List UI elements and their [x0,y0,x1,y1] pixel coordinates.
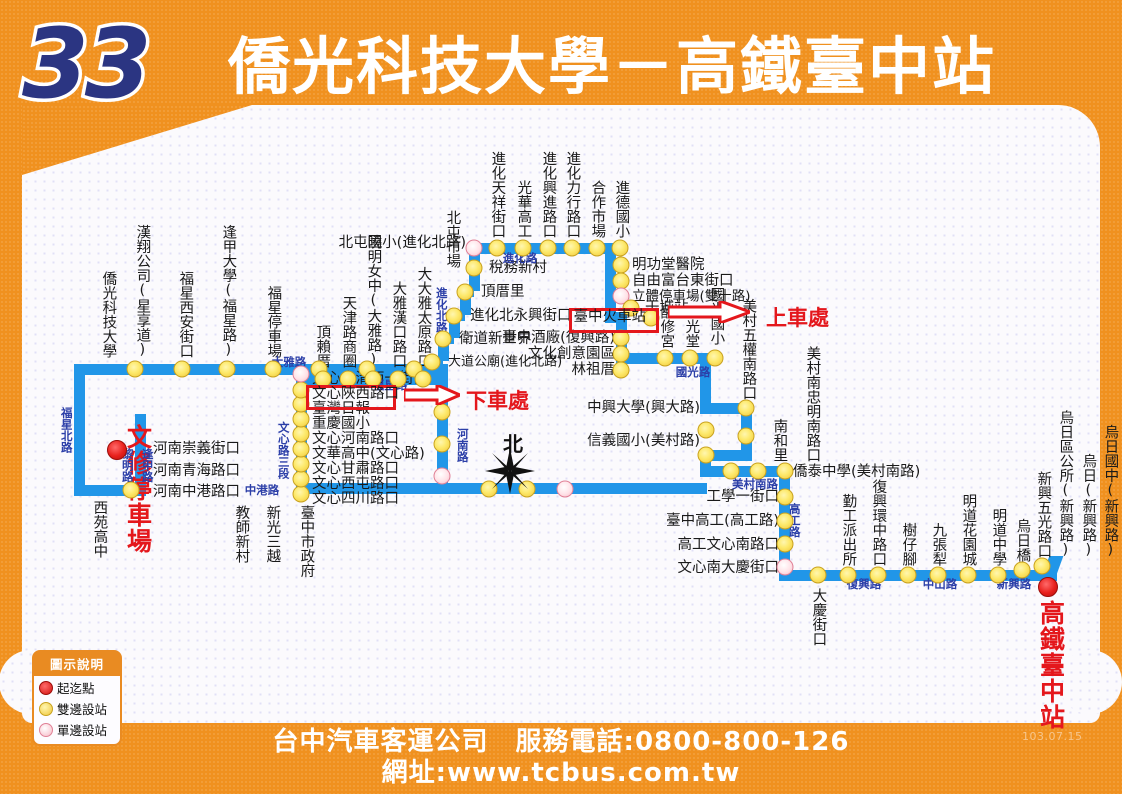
station-label-boarding: 臺中火車站 [574,310,647,325]
start-end-dot-icon [39,681,53,695]
stop-dot [540,240,557,257]
station-label: 大慶街口 [811,588,826,646]
station-label: 重慶國小 [312,417,370,432]
stop-dot [123,482,140,499]
station-label: 明道花園城 [961,494,976,567]
stop-dot [434,436,451,453]
both-side-dot-icon [39,702,53,716]
stop-dot [612,240,629,257]
street-label: 河南路 [456,428,468,463]
station-label: 福星停車場 [266,286,281,359]
stop-dot [457,284,474,301]
stop-dot-single [466,240,483,257]
station-label: 南和里 [772,419,787,463]
stop-dot [564,240,581,257]
stop-dot [293,411,310,428]
stop-dot [840,567,857,584]
stop-dot-single [777,559,794,576]
footer-company: 台中汽車客運公司 服務電話:0800-800-126 [0,726,1122,758]
stop-dot [682,350,699,367]
street-label: 國光路 [676,364,711,380]
station-label: 漢翔公司(星享道) [135,225,150,359]
stop-dot [613,362,630,379]
bus-route-map: 33 僑光科技大學－高鐵臺中站 [0,0,1122,794]
stop-dot [293,471,310,488]
station-label: 復興環中路口 [871,479,886,566]
station-label: 新興五光路口 [1036,471,1051,558]
map-panel [22,105,1100,723]
terminus-dot-hsr [1038,577,1058,597]
stop-dot [1034,558,1051,575]
stop-dot [293,441,310,458]
street-label: 文心路三段 [277,421,289,479]
street-label: 中港路 [245,482,280,498]
stop-dot [777,513,794,530]
stop-dot [265,361,282,378]
station-label: 僑光科技大學 [101,271,116,358]
station-label: 臺中市政府 [299,505,314,578]
boarding-arrow-icon [668,301,750,327]
stop-dot [446,308,463,325]
street-label: 進化北路 [435,287,447,333]
stop-dot [613,346,630,363]
street-label: 逢甲路 [141,448,153,483]
station-label: 大大雅太原路口 [416,267,431,369]
legend-title: 圖示說明 [34,652,120,676]
station-label: 天津路商圈 [341,296,356,369]
stop-dot [990,567,1007,584]
station-label: 烏日區公所(新興路) [1058,410,1073,558]
compass-rose-icon [485,448,535,498]
stop-dot [870,567,887,584]
date-stamp: 103.07.15 [1022,730,1082,743]
stop-dot [174,361,191,378]
station-label: 美村南忠明南路口 [805,346,820,462]
station-label: 逢甲大學(福星路) [221,225,236,359]
stop-dot-single [557,481,574,498]
stop-dot [723,463,740,480]
legend: 圖示說明 起迄點 雙邊設站 單邊設站 [32,650,122,746]
station-label: 中興大學(興大路) [587,401,700,416]
stop-dot [777,463,794,480]
station-label: 烏日(新興路) [1081,454,1096,559]
stop-dot [293,486,310,503]
legend-item-label: 雙邊設站 [57,699,107,718]
alighting-arrow-icon [404,385,460,409]
boarding-label: 上車處 [766,302,829,332]
station-label: 進化天祥街口 [490,151,505,238]
station-label: 樹仔腳 [901,523,916,567]
stop-dot [698,447,715,464]
footer: 台中汽車客運公司 服務電話:0800-800-126 網址:www.tcbus.… [0,726,1122,794]
station-label: 林祖厝 [572,363,616,378]
station-label: 僑泰中學(美村南路) [793,465,920,480]
street-label: 福星北路 [60,407,72,453]
stop-dot [900,567,917,584]
station-label: 北屯國小(進化北路) [339,236,466,251]
stop-dot [960,567,977,584]
station-label: 河南青海路口 [153,464,240,479]
stop-dot [930,567,947,584]
station-label: 文心西屯路口 [312,477,399,492]
station-label: 西苑高中 [92,500,107,558]
terminus-dot-wenxiu [107,440,127,460]
stop-dot [738,428,755,445]
station-label: 河南崇義街口 [153,442,240,457]
stop-dot [1014,562,1031,579]
station-label: 信義國小(美村路) [587,434,700,449]
station-label: 勤工派出所 [841,494,856,567]
station-label: 合作市場 [590,180,605,238]
legend-item-label: 起迄點 [57,678,95,697]
station-label: 文華高中(文心路) [312,447,425,462]
station-label: 河南中港路口 [153,485,240,500]
terminus-label-hsr: 高鐵臺中站 [1038,600,1064,730]
station-label: 烏日橋 [1015,519,1030,563]
stop-dot [489,240,506,257]
footer-website: 網址:www.tcbus.com.tw [0,758,1122,788]
header: 33 僑光科技大學－高鐵臺中站 [0,0,1122,110]
stop-dot [435,331,452,348]
station-label: 文化創意園區 [528,347,615,362]
stop-dot [707,350,724,367]
stop-dot [219,361,236,378]
one-side-dot-icon [39,723,53,737]
station-label: 頂厝里 [481,285,525,300]
stop-dot [750,463,767,480]
stop-dot-single [293,366,310,383]
station-label: 臺中高工(高工路) [666,514,779,529]
stop-dot [589,240,606,257]
stop-dot-single [434,468,451,485]
legend-item-start: 起迄點 [34,676,120,697]
stop-dot [293,426,310,443]
stop-dot [810,567,827,584]
legend-item-both: 雙邊設站 [34,697,120,718]
route-number: 33 [22,8,148,120]
stop-dot [777,536,794,553]
legend-item-label: 單邊設站 [57,720,107,739]
station-label: 明功堂醫院 [632,258,705,273]
station-label: 光華高工 [516,180,531,238]
station-label: 曉明女中(大雅路) [366,235,381,369]
station-label: 明道中學 [991,508,1006,566]
station-label: 教師新村 [234,505,249,563]
station-label: 文心河南路口 [312,432,399,447]
station-label: 進化力行路口 [565,151,580,238]
station-label: 文心四川路口 [312,492,399,507]
station-label: 進化北永興街口 [470,309,572,324]
station-label: 進德國小 [614,180,629,238]
stop-dot [738,400,755,417]
stop-dot [424,354,441,371]
station-label: 大雅漢口路口 [391,281,406,368]
station-label: 新光三越 [265,505,280,563]
stop-dot [657,350,674,367]
station-label: 烏日國中(新興路) [1103,425,1118,559]
stop-dot [293,456,310,473]
station-label: 高工文心南路口 [678,538,780,553]
station-label: 福星西安街口 [178,271,193,358]
stop-dot [613,257,630,274]
station-label: 九張犁 [931,523,946,567]
page-title: 僑光科技大學－高鐵臺中站 [228,16,996,106]
stop-dot [127,361,144,378]
stop-dot [777,489,794,506]
station-label: 進化興進路口 [541,151,556,238]
stop-dot [466,260,483,277]
stop-dot [515,240,532,257]
legend-item-one: 單邊設站 [34,718,120,739]
station-label: 文心甘肅路口 [312,462,399,477]
alighting-label: 下車處 [466,385,529,415]
stop-dot [698,422,715,439]
wheel-arch-right [1058,650,1122,714]
station-label-alighting: 文心陜西路口 [312,387,399,402]
station-label: 文心南大慶街口 [678,561,780,576]
